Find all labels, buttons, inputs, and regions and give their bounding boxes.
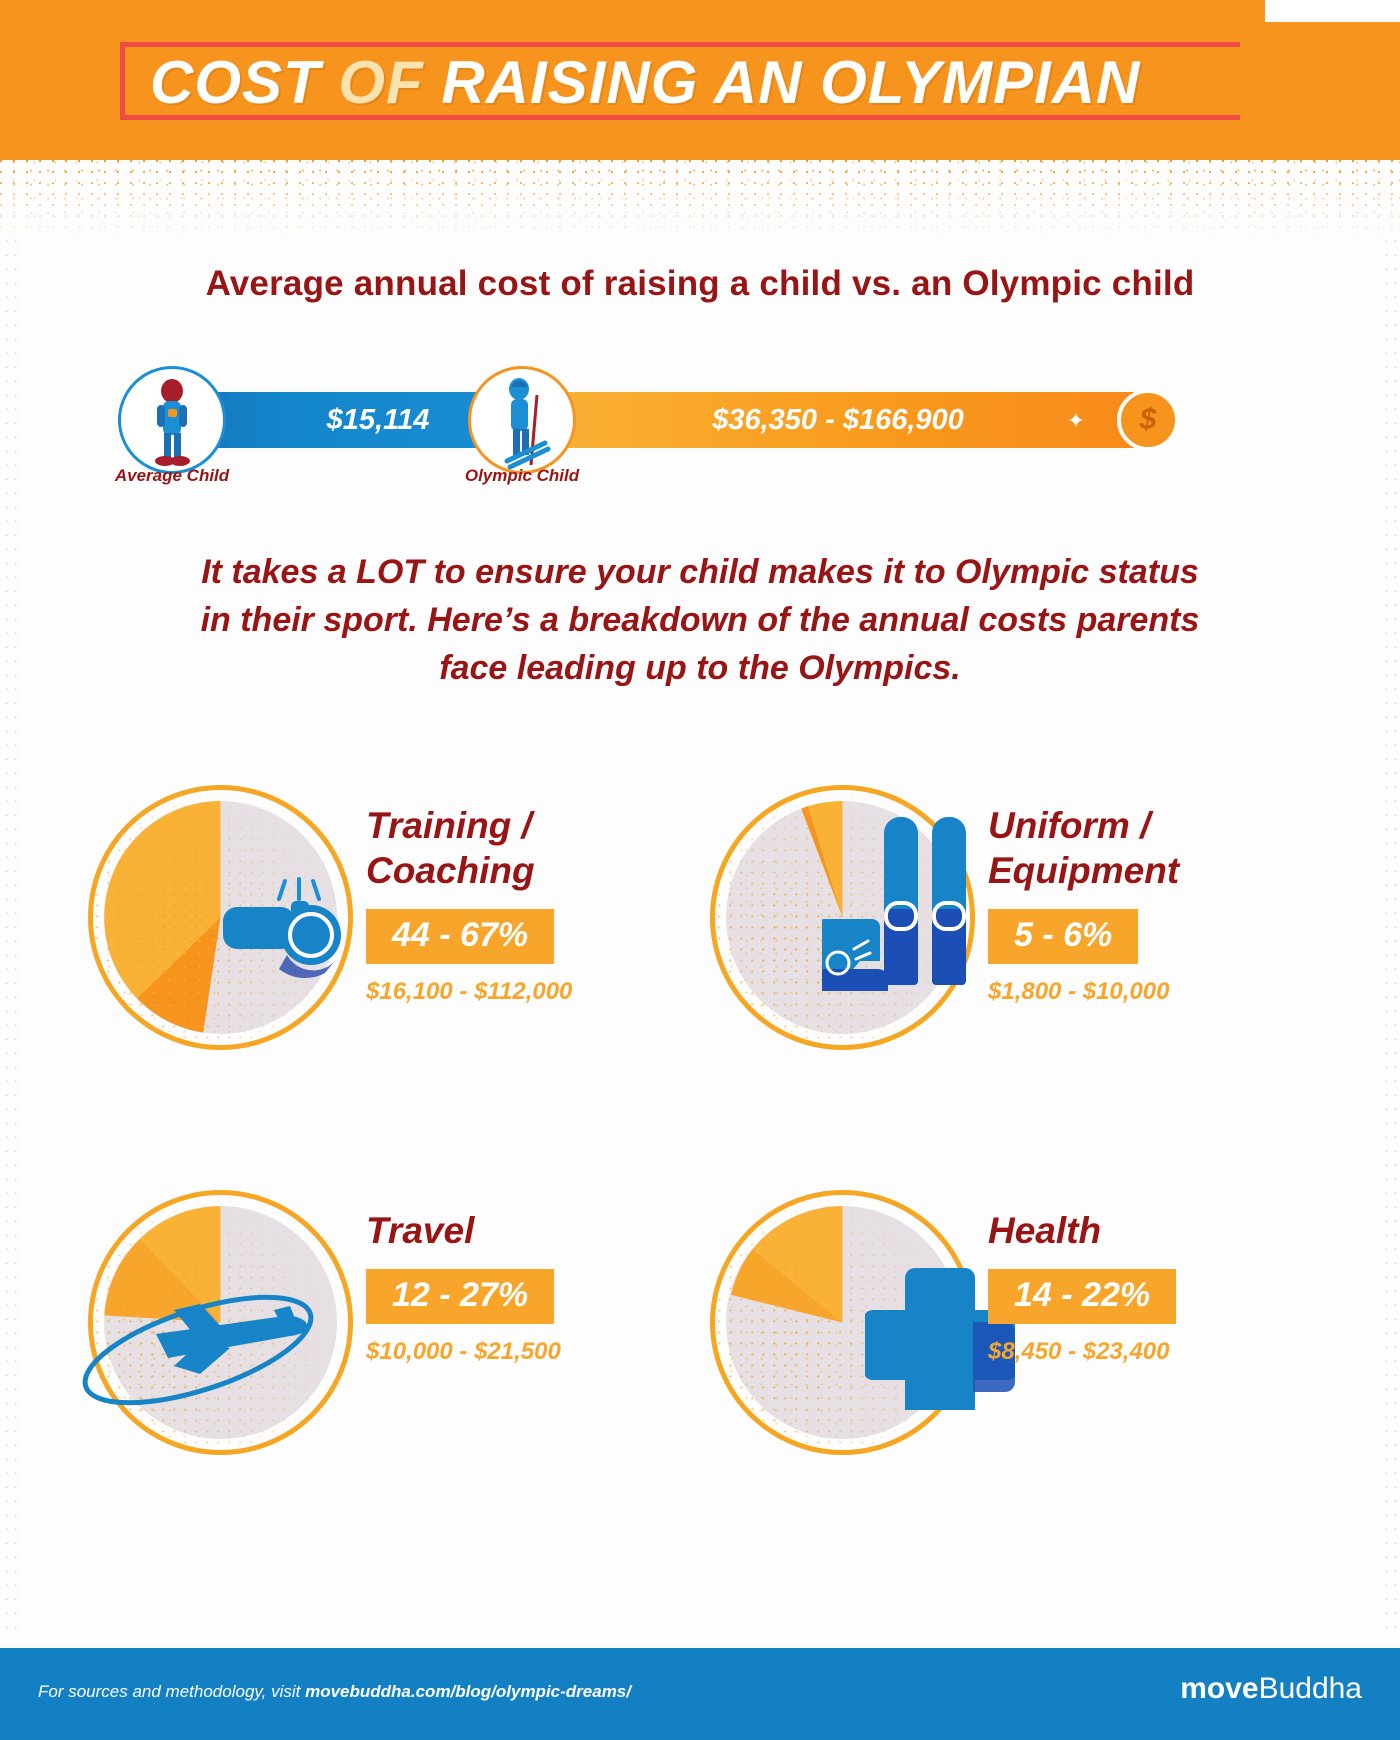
cost-range: $1,800 - $10,000 xyxy=(988,978,1288,1006)
card-text-health: Health 14 - 22% $8,450 - $23,400 xyxy=(988,1208,1288,1366)
average-child-figure-icon xyxy=(121,369,223,471)
sparkle-icon: ✦ xyxy=(1067,408,1085,434)
pie-chart-health xyxy=(710,1190,975,1455)
left-edge-speckle xyxy=(2,240,18,1640)
percent-badge: 14 - 22% xyxy=(988,1269,1176,1324)
logo-buddha: Buddha xyxy=(1259,1672,1362,1705)
page-title-part-2: OF xyxy=(338,49,441,116)
card-title: Uniform / Equipment xyxy=(988,803,1288,893)
olympic-child-label: Olympic Child xyxy=(412,466,632,486)
olympic-child-avatar xyxy=(468,366,576,474)
ski-boot-icon xyxy=(822,813,997,1028)
whistle-icon xyxy=(213,877,363,987)
olympic-child-skier-icon xyxy=(471,369,573,471)
page-title: COST OF RAISING AN OLYMPIAN xyxy=(150,50,1250,116)
card-title: Training / Coaching xyxy=(366,803,666,893)
card-text-training-coaching: Training / Coaching 44 - 67% $16,100 - $… xyxy=(366,803,666,1006)
intro-paragraph: It takes a LOT to ensure your child make… xyxy=(200,548,1200,692)
footer-sources-text: For sources and methodology, visit moveb… xyxy=(38,1682,631,1702)
card-title: Travel xyxy=(366,1208,666,1253)
section-heading: Average annual cost of raising a child v… xyxy=(0,264,1400,304)
olympic-child-value: $36,350 - $166,900 xyxy=(558,392,1118,448)
cost-comparison-bar: $15,114 $36,350 - $166,900 ✦ $ xyxy=(118,392,1163,448)
page-title-part-3: RAISING AN OLYMPIAN xyxy=(441,49,1140,116)
header-notch xyxy=(1265,0,1400,22)
page-title-part-1: COST xyxy=(150,49,338,116)
card-text-uniform-equipment: Uniform / Equipment 5 - 6% $1,800 - $10,… xyxy=(988,803,1288,1006)
card-text-travel: Travel 12 - 27% $10,000 - $21,500 xyxy=(366,1208,666,1366)
logo-move: move xyxy=(1180,1672,1258,1705)
airplane-icon xyxy=(78,1270,338,1420)
dollar-coin-icon: $ xyxy=(1117,389,1179,451)
pie-chart-training-coaching xyxy=(88,785,353,1050)
cost-range: $16,100 - $112,000 xyxy=(366,978,666,1006)
cost-card-health: Health 14 - 22% $8,450 - $23,400 xyxy=(700,1180,1290,1480)
right-edge-speckle xyxy=(1382,240,1398,1640)
footer-sources-url[interactable]: movebuddha.com/blog/olympic-dreams/ xyxy=(305,1682,631,1701)
average-child-avatar xyxy=(118,366,226,474)
pie-chart-uniform-equipment xyxy=(710,785,975,1050)
footer-bar: For sources and methodology, visit moveb… xyxy=(0,1648,1400,1740)
cost-range: $10,000 - $21,500 xyxy=(366,1338,666,1366)
header-speckle-fade xyxy=(0,160,1400,240)
card-title: Health xyxy=(988,1208,1288,1253)
footer-sources-prefix: For sources and methodology, visit xyxy=(38,1682,305,1701)
movebuddha-logo[interactable]: moveBuddha xyxy=(1180,1672,1362,1706)
cost-card-training-coaching: Training / Coaching 44 - 67% $16,100 - $… xyxy=(78,775,668,1075)
cost-range: $8,450 - $23,400 xyxy=(988,1338,1288,1366)
average-child-label: Average Child xyxy=(62,466,282,486)
percent-badge: 12 - 27% xyxy=(366,1269,554,1324)
pie-chart-travel xyxy=(88,1190,353,1455)
cost-card-uniform-equipment: Uniform / Equipment 5 - 6% $1,800 - $10,… xyxy=(700,775,1290,1075)
percent-badge: 5 - 6% xyxy=(988,909,1138,964)
infographic-page: COST OF RAISING AN OLYMPIAN Average annu… xyxy=(0,0,1400,1740)
cost-card-travel: Travel 12 - 27% $10,000 - $21,500 xyxy=(78,1180,668,1480)
percent-badge: 44 - 67% xyxy=(366,909,554,964)
